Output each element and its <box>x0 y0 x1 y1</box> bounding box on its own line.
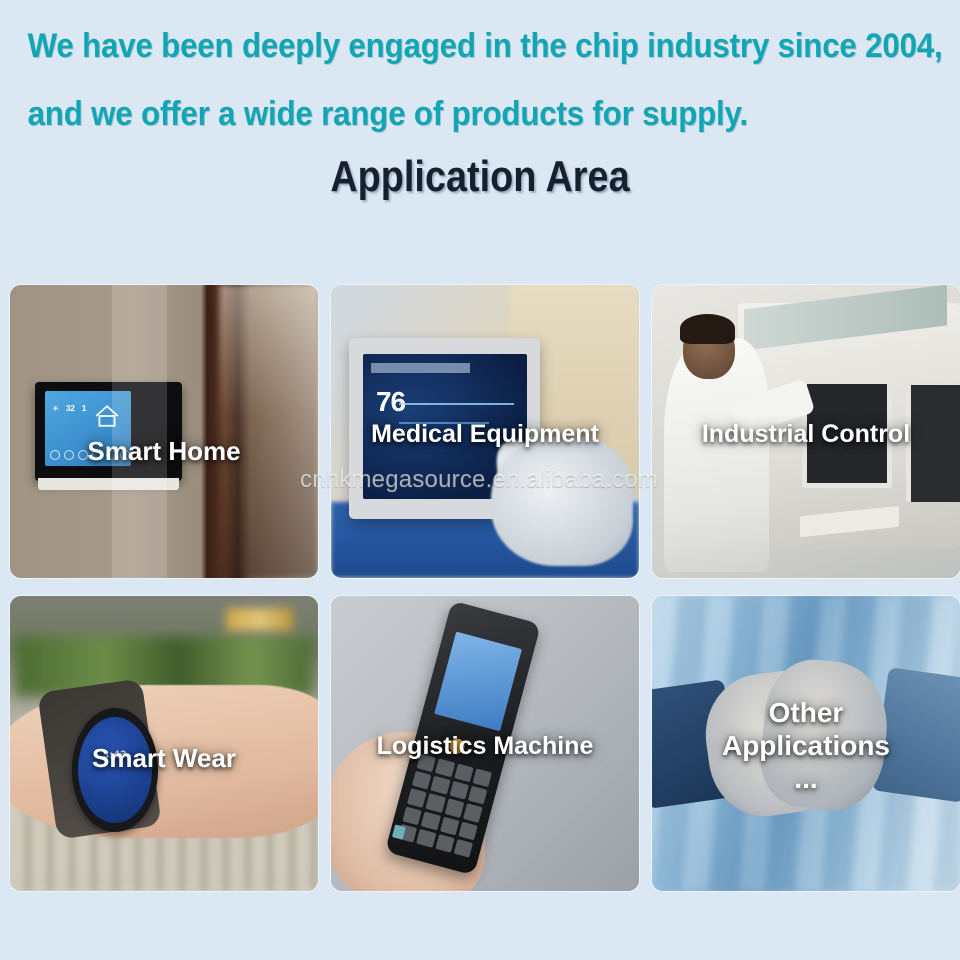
headline: We have been deeply engaged in the chip … <box>0 18 883 142</box>
vital-value: 76 <box>376 386 405 418</box>
key <box>463 803 483 822</box>
terminal-keypad <box>398 753 492 857</box>
control-monitor <box>802 379 892 489</box>
tile-industrial-control[interactable]: Industrial Control <box>652 285 960 578</box>
application-grid: ☀ 32 1 <box>10 285 948 891</box>
gloved-hand <box>491 437 633 566</box>
smartwatch: 3:43 <box>72 708 158 832</box>
tile-other-applications[interactable]: Other Applications ... <box>652 596 960 891</box>
key <box>412 771 432 790</box>
panel-status-row: ☀ 32 1 <box>52 404 87 413</box>
panel-value: 1 <box>82 404 86 413</box>
fan-icon <box>50 450 60 460</box>
lock-icon <box>78 450 88 460</box>
thermometer-icon: 32 <box>66 404 75 413</box>
key <box>459 821 479 840</box>
spo2-waveform <box>399 422 489 424</box>
key <box>435 834 455 853</box>
key <box>417 829 437 848</box>
key <box>473 768 493 787</box>
key <box>436 758 456 777</box>
tile-medical-equipment[interactable]: 76 Medical Equipment <box>331 285 639 578</box>
background-lights <box>226 608 294 632</box>
camera-icon <box>92 450 102 460</box>
key <box>403 806 423 825</box>
key <box>417 753 437 772</box>
tile-smart-wear[interactable]: 3:43 Smart Wear <box>10 596 318 891</box>
key <box>445 798 465 817</box>
key <box>426 793 446 812</box>
key <box>421 811 441 830</box>
logistics-photo <box>331 596 639 891</box>
key <box>431 776 451 795</box>
headline-line-2: and we offer a wide range of products fo… <box>0 86 883 142</box>
tile-logistics-machine[interactable]: Logistics Machine <box>331 596 639 891</box>
section-title: Application Area <box>67 152 893 202</box>
industrial-photo <box>652 285 960 578</box>
watch-time: 3:43 <box>78 749 152 761</box>
technician-hair <box>680 314 735 343</box>
light-sheen <box>112 285 167 578</box>
smart-wear-photo: 3:43 <box>10 596 318 891</box>
scan-button <box>448 737 466 755</box>
smart-home-photo: ☀ 32 1 <box>10 285 318 578</box>
application-area-banner: We have been deeply engaged in the chip … <box>0 0 960 960</box>
handshake-photo <box>652 596 960 891</box>
terminal-screen <box>434 631 522 731</box>
key <box>440 816 460 835</box>
light-icon <box>64 450 74 460</box>
secondary-monitor <box>906 385 960 502</box>
sun-icon: ☀ <box>52 404 59 413</box>
key <box>454 763 474 782</box>
monitor-topbar <box>371 363 470 373</box>
tile-smart-home[interactable]: ☀ 32 1 <box>10 285 318 578</box>
key <box>468 786 488 805</box>
headline-line-1: We have been deeply engaged in the chip … <box>0 18 883 74</box>
door-frame <box>219 285 318 578</box>
key <box>449 781 469 800</box>
key <box>454 839 474 858</box>
ecg-waveform <box>399 403 514 405</box>
watch-face: 3:43 <box>78 717 152 824</box>
key <box>408 788 428 807</box>
medical-photo: 76 <box>331 285 639 578</box>
